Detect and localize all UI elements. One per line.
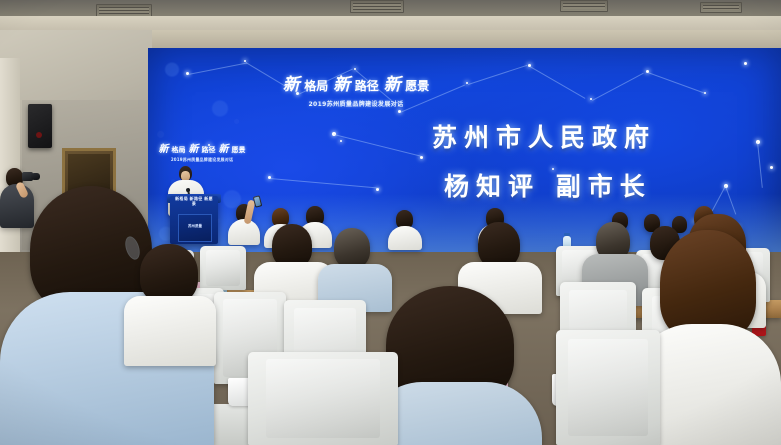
led-title-row: 新 格局 新 路径 新 愿景	[272, 70, 440, 95]
star-dot	[770, 166, 773, 169]
stage-banner-emphasis-1: 新	[159, 140, 169, 155]
star-dot	[340, 140, 342, 142]
bottle-cap-icon	[564, 233, 570, 236]
stage-banner-word-3: 愿景	[232, 145, 246, 155]
led-title-word-1: 格局	[304, 77, 328, 94]
led-speaker-credit: 苏州市人民政府 杨知评 副市长	[432, 118, 762, 203]
podium-front-plate: 苏州质量	[178, 214, 212, 242]
led-title-emphasis-1: 新	[283, 70, 300, 95]
led-title-emphasis-3: 新	[384, 70, 401, 95]
ceiling-vent	[700, 2, 742, 13]
stage-banner-emphasis-3: 新	[219, 140, 229, 155]
stage-banner-word-1: 格局	[172, 145, 186, 155]
podium-plate-text: 苏州质量	[179, 224, 211, 229]
stage-banner-emphasis-2: 新	[189, 140, 199, 155]
led-title-word-2: 路径	[355, 77, 379, 94]
stage-banner-row: 新 格局 新 路径 新 愿景	[156, 140, 248, 155]
foreground-head	[140, 244, 198, 304]
led-title-word-3: 愿景	[405, 77, 429, 94]
ceiling-vent	[350, 0, 404, 13]
conference-photo-scene: 新 格局 新 路径 新 愿景 2019苏州质量品牌建设发展对话 苏州市人民政府 …	[0, 0, 781, 445]
audience-torso	[388, 226, 422, 250]
camera-lens-icon	[31, 173, 40, 180]
wall-speaker-icon	[28, 104, 52, 148]
ceiling-vent	[560, 0, 608, 12]
stage-side-banner: 新 格局 新 路径 新 愿景 2019苏州质量品牌建设发展对话	[156, 140, 248, 163]
wall-header-band	[150, 30, 781, 50]
stage-banner-subtitle: 2019苏州质量品牌建设发展对话	[156, 157, 248, 163]
audience-torso	[228, 219, 260, 245]
led-title-subtitle: 2019苏州质量品牌建设发展对话	[272, 99, 440, 108]
star-dot	[744, 62, 747, 65]
led-credit-organization: 苏州市人民政府	[432, 118, 762, 154]
audience-chair	[200, 246, 246, 290]
led-title-emphasis-2: 新	[333, 70, 350, 95]
foreground-torso	[124, 296, 216, 366]
audience-head	[334, 228, 370, 268]
foreground-chair	[556, 330, 660, 445]
podium-branding-text: 新格局 新路径 新愿景	[174, 196, 214, 206]
led-event-title: 新 格局 新 路径 新 愿景 2019苏州质量品牌建设发展对话	[272, 70, 440, 108]
stage-banner-word-2: 路径	[202, 145, 216, 155]
led-credit-name-title: 杨知评 副市长	[432, 167, 762, 203]
wall-column	[0, 58, 20, 268]
foreground-chair	[248, 352, 398, 445]
